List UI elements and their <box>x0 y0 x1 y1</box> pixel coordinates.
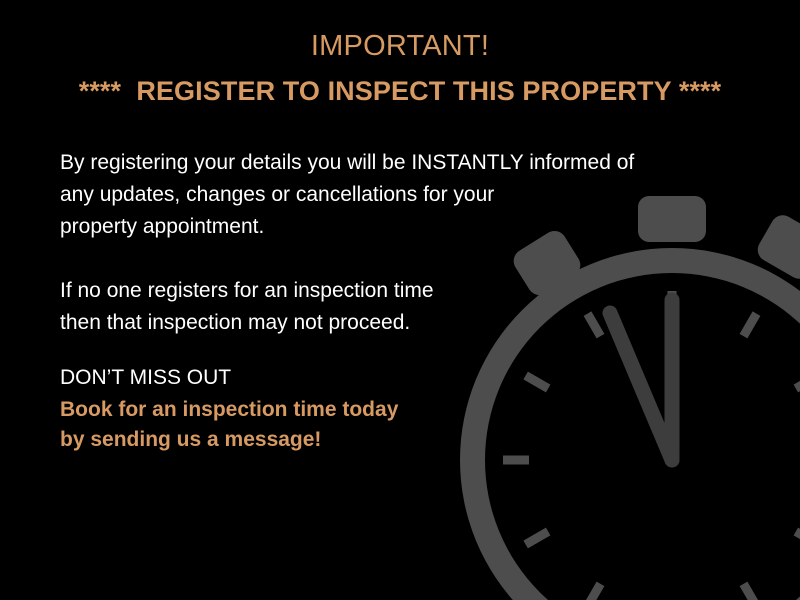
text-layer: IMPORTANT! **** REGISTER TO INSPECT THIS… <box>0 0 800 600</box>
paragraph-registering-details: By registering your details you will be … <box>60 147 634 243</box>
page-title-register: **** REGISTER TO INSPECT THIS PROPERTY *… <box>0 76 800 107</box>
cta-send-message: by sending us a message! <box>60 425 321 455</box>
paragraph-no-registration-warning: If no one registers for an inspection ti… <box>60 275 434 339</box>
slide-canvas: IMPORTANT! **** REGISTER TO INSPECT THIS… <box>0 0 800 600</box>
page-title-important: IMPORTANT! <box>0 30 800 63</box>
cta-dont-miss-out: DON’T MISS OUT <box>60 363 231 393</box>
cta-book-inspection: Book for an inspection time today <box>60 395 398 425</box>
